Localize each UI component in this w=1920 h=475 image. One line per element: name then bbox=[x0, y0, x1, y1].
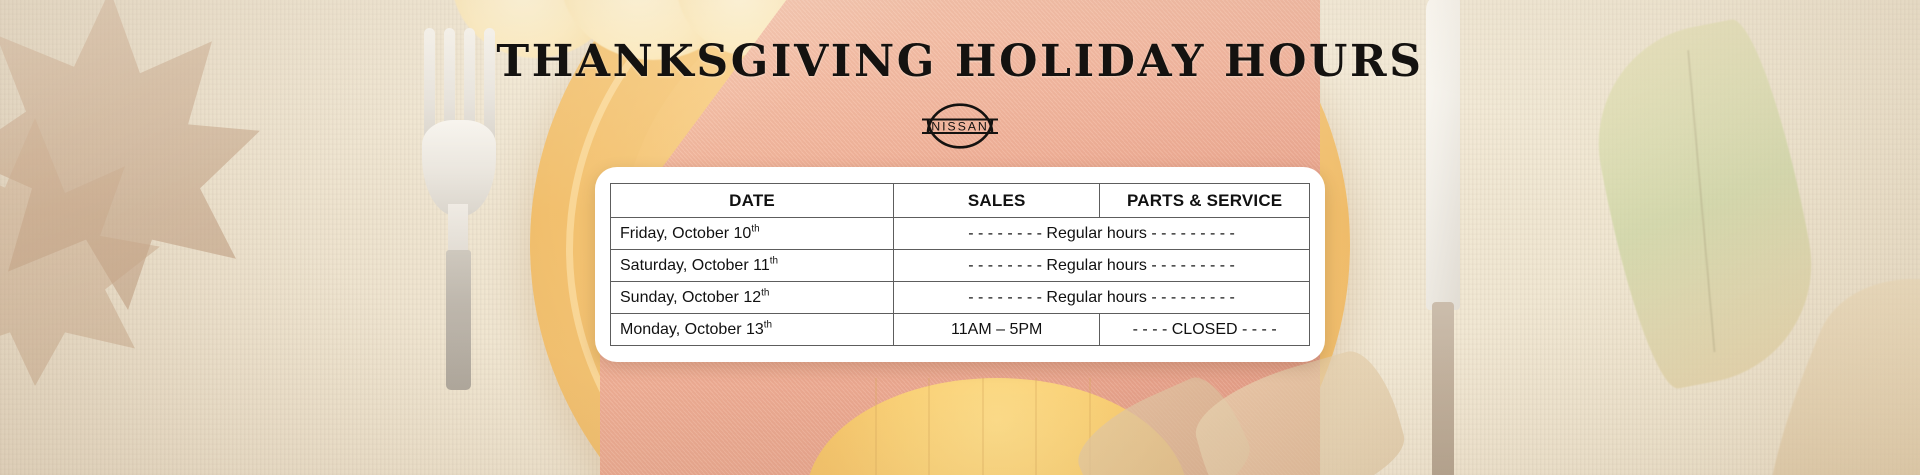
svg-text:NISSAN: NISSAN bbox=[931, 119, 989, 133]
date-text: Monday, October 13 bbox=[620, 321, 764, 338]
table-row: Saturday, October 11th - - - - - - - - R… bbox=[611, 250, 1310, 282]
cell-sales-hours: 11AM – 5PM bbox=[894, 314, 1100, 346]
cell-date: Saturday, October 11th bbox=[611, 250, 894, 282]
cell-hours-span: - - - - - - - - Regular hours - - - - - … bbox=[894, 282, 1310, 314]
table-header-row: DATE SALES PARTS & SERVICE bbox=[611, 184, 1310, 218]
holiday-hours-table: DATE SALES PARTS & SERVICE Friday, Octob… bbox=[610, 183, 1310, 346]
nissan-logo-icon: NISSAN bbox=[908, 95, 1012, 157]
date-ordinal: th bbox=[751, 223, 759, 234]
column-header-parts-service: PARTS & SERVICE bbox=[1100, 184, 1310, 218]
cell-date: Friday, October 10th bbox=[611, 218, 894, 250]
date-text: Friday, October 10 bbox=[620, 225, 751, 242]
banner-content: THANKSGIVING HOLIDAY HOURS NISSAN DATE bbox=[0, 0, 1920, 475]
cell-date: Sunday, October 12th bbox=[611, 282, 894, 314]
date-ordinal: th bbox=[764, 319, 772, 330]
cell-hours-span: - - - - - - - - Regular hours - - - - - … bbox=[894, 250, 1310, 282]
brand-logo: NISSAN bbox=[908, 95, 1012, 157]
thanksgiving-holiday-hours-banner: THANKSGIVING HOLIDAY HOURS NISSAN DATE bbox=[0, 0, 1920, 475]
hours-card: DATE SALES PARTS & SERVICE Friday, Octob… bbox=[595, 167, 1325, 362]
cell-hours-span: - - - - - - - - Regular hours - - - - - … bbox=[894, 218, 1310, 250]
date-text: Sunday, October 12 bbox=[620, 289, 761, 306]
date-ordinal: th bbox=[770, 255, 778, 266]
page-title: THANKSGIVING HOLIDAY HOURS bbox=[496, 36, 1423, 87]
column-header-sales: SALES bbox=[894, 184, 1100, 218]
cell-date: Monday, October 13th bbox=[611, 314, 894, 346]
table-row: Monday, October 13th 11AM – 5PM - - - - … bbox=[611, 314, 1310, 346]
column-header-date: DATE bbox=[611, 184, 894, 218]
table-body: Friday, October 10th - - - - - - - - Reg… bbox=[611, 218, 1310, 346]
date-ordinal: th bbox=[761, 287, 769, 298]
cell-parts-service-hours: - - - - CLOSED - - - - bbox=[1100, 314, 1310, 346]
table-row: Sunday, October 12th - - - - - - - - Reg… bbox=[611, 282, 1310, 314]
table-row: Friday, October 10th - - - - - - - - Reg… bbox=[611, 218, 1310, 250]
date-text: Saturday, October 11 bbox=[620, 257, 770, 274]
